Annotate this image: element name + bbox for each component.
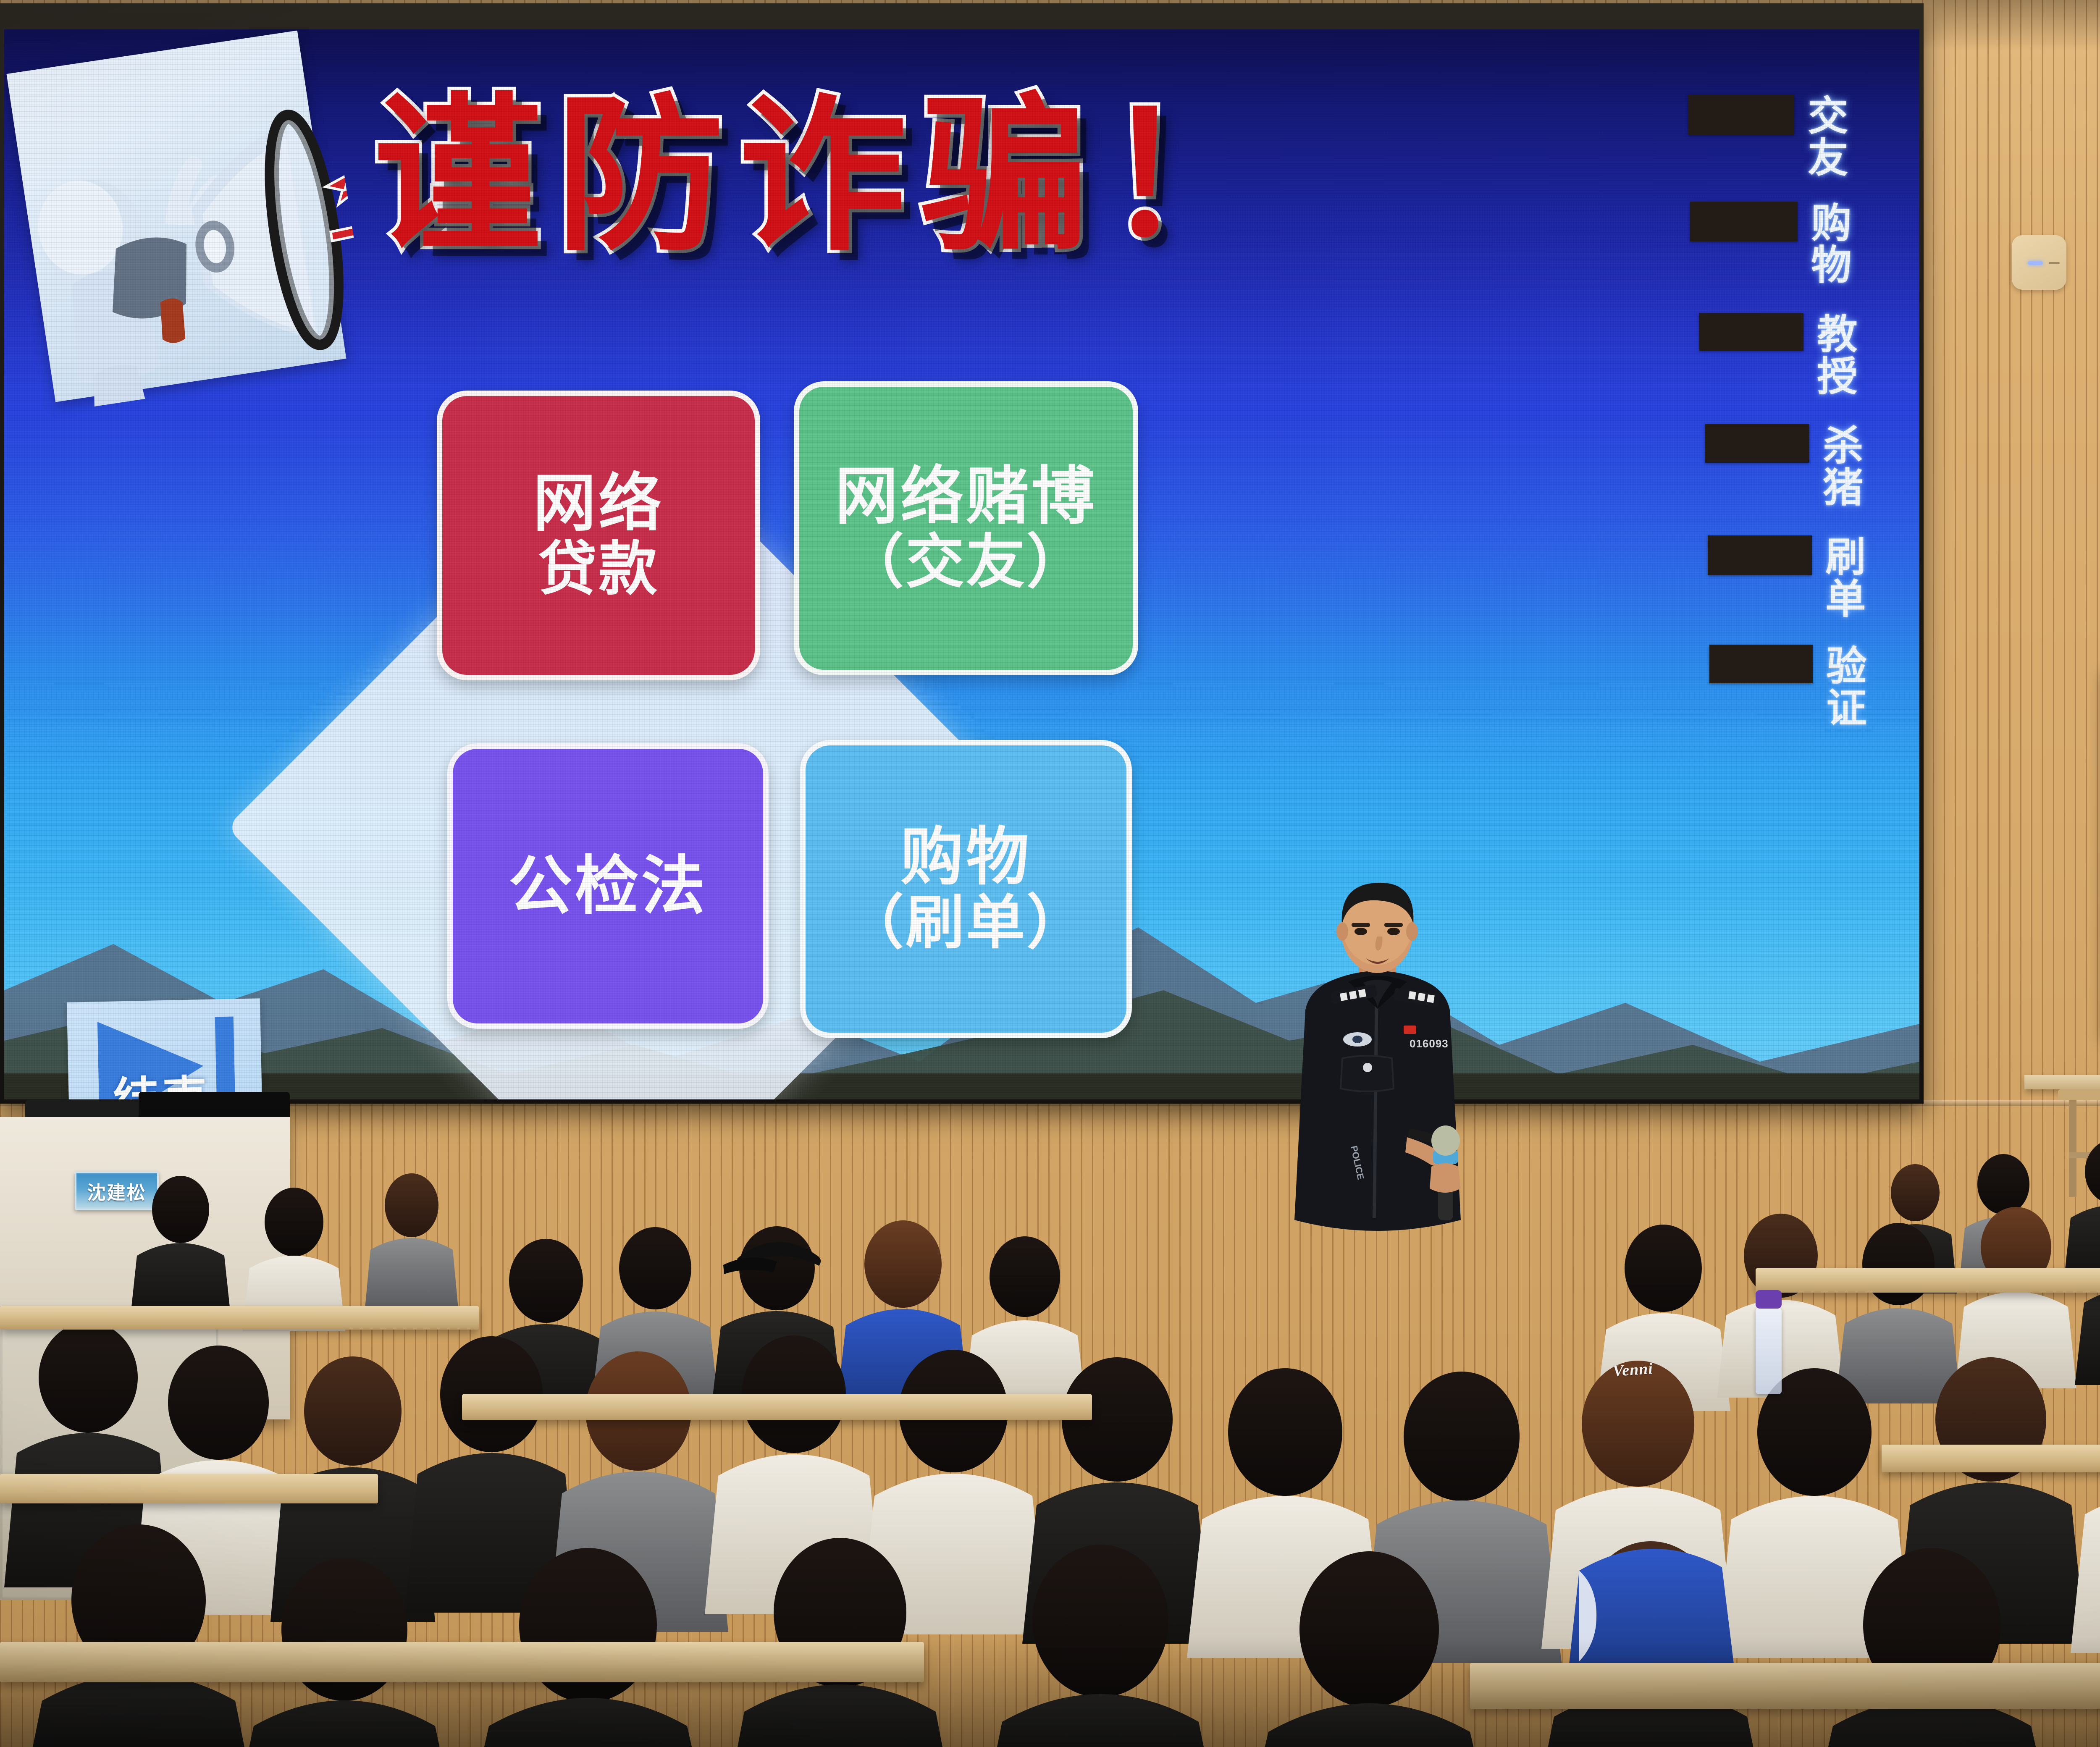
redaction-box	[1690, 202, 1798, 241]
card-shopping-refund[interactable]: 购物 （刷单）	[800, 740, 1132, 1038]
side-list-label-5: 验证	[1822, 645, 1863, 729]
side-ledge	[2024, 1075, 2100, 1089]
side-list-label-1: 购物	[1807, 202, 1848, 286]
redaction-box	[1699, 313, 1803, 351]
side-list-item-0: 交友	[1688, 94, 1886, 178]
side-list-item-4: 刷单	[1708, 535, 1903, 619]
card-online-loan[interactable]: 网络 贷款	[437, 391, 760, 680]
redaction-box	[1709, 645, 1813, 683]
card-public-security-law[interactable]: 公检法	[447, 743, 769, 1029]
desk-row	[462, 1394, 1092, 1420]
card-online-gambling[interactable]: 网络赌博 （交友）	[794, 381, 1138, 675]
led-screen[interactable]: 谨防诈骗！ 网络 贷款 网络赌博 （交友） 公检法 购物 （刷单）	[4, 29, 1919, 1099]
jacket-brand-text: Venni	[1612, 1359, 1654, 1381]
desk-row	[0, 1642, 924, 1682]
desk-row	[0, 1474, 378, 1503]
card-shopping-refund-line1: 购物	[900, 823, 1032, 891]
side-list-item-2: 教授	[1699, 313, 1895, 397]
side-list-item-5: 验证	[1709, 645, 1904, 729]
desk-row	[1470, 1663, 2100, 1709]
card-online-gambling-line2: （交友）	[845, 530, 1087, 594]
side-list-label-0: 交友	[1803, 94, 1845, 178]
megaphone-icon	[4, 29, 373, 417]
side-list-item-3: 杀猪	[1705, 424, 1901, 508]
megaphone-illustration-card	[6, 31, 346, 402]
side-list-label-2: 教授	[1813, 313, 1854, 397]
svg-text:016093: 016093	[1410, 1037, 1449, 1050]
redaction-box	[1705, 424, 1809, 463]
side-list-label-4: 刷单	[1821, 535, 1862, 619]
desk-row	[1756, 1268, 2100, 1293]
card-shopping-refund-line2: （刷单）	[845, 891, 1087, 955]
redaction-box	[1688, 94, 1794, 135]
audience-area: Venni	[0, 1142, 2100, 1747]
card-public-security-law-line1: 公检法	[509, 852, 708, 921]
bottle-cap-icon	[1756, 1290, 1782, 1309]
desk-row	[0, 1306, 479, 1330]
desk-row	[1882, 1445, 2100, 1472]
card-online-gambling-line1: 网络赌博	[835, 462, 1097, 530]
card-online-loan-line1: 网络	[533, 470, 664, 538]
water-bottle[interactable]	[1756, 1306, 1782, 1394]
slide-title: 谨防诈骗！	[374, 92, 1285, 260]
video-player-overlay[interactable]: 结束	[67, 998, 262, 1099]
card-online-loan-line2: 贷款	[538, 538, 659, 601]
led-screen-bezel: 谨防诈骗！ 网络 贷款 网络赌博 （交友） 公检法 购物 （刷单）	[0, 3, 1924, 1104]
screenshot-root: 谨防诈骗！ 网络 贷款 网络赌博 （交友） 公检法 购物 （刷单）	[0, 0, 2100, 1747]
pause-bar-icon[interactable]	[215, 1017, 236, 1099]
sensor-slot-icon	[2049, 262, 2060, 264]
side-list-label-3: 杀猪	[1819, 424, 1860, 508]
side-list-item-1: 购物	[1690, 202, 1889, 286]
slide-side-list: 交友 购物 教授 杀猪 刷单	[1693, 94, 1894, 766]
sensor-led-icon	[2028, 261, 2043, 265]
redaction-box	[1708, 535, 1812, 575]
